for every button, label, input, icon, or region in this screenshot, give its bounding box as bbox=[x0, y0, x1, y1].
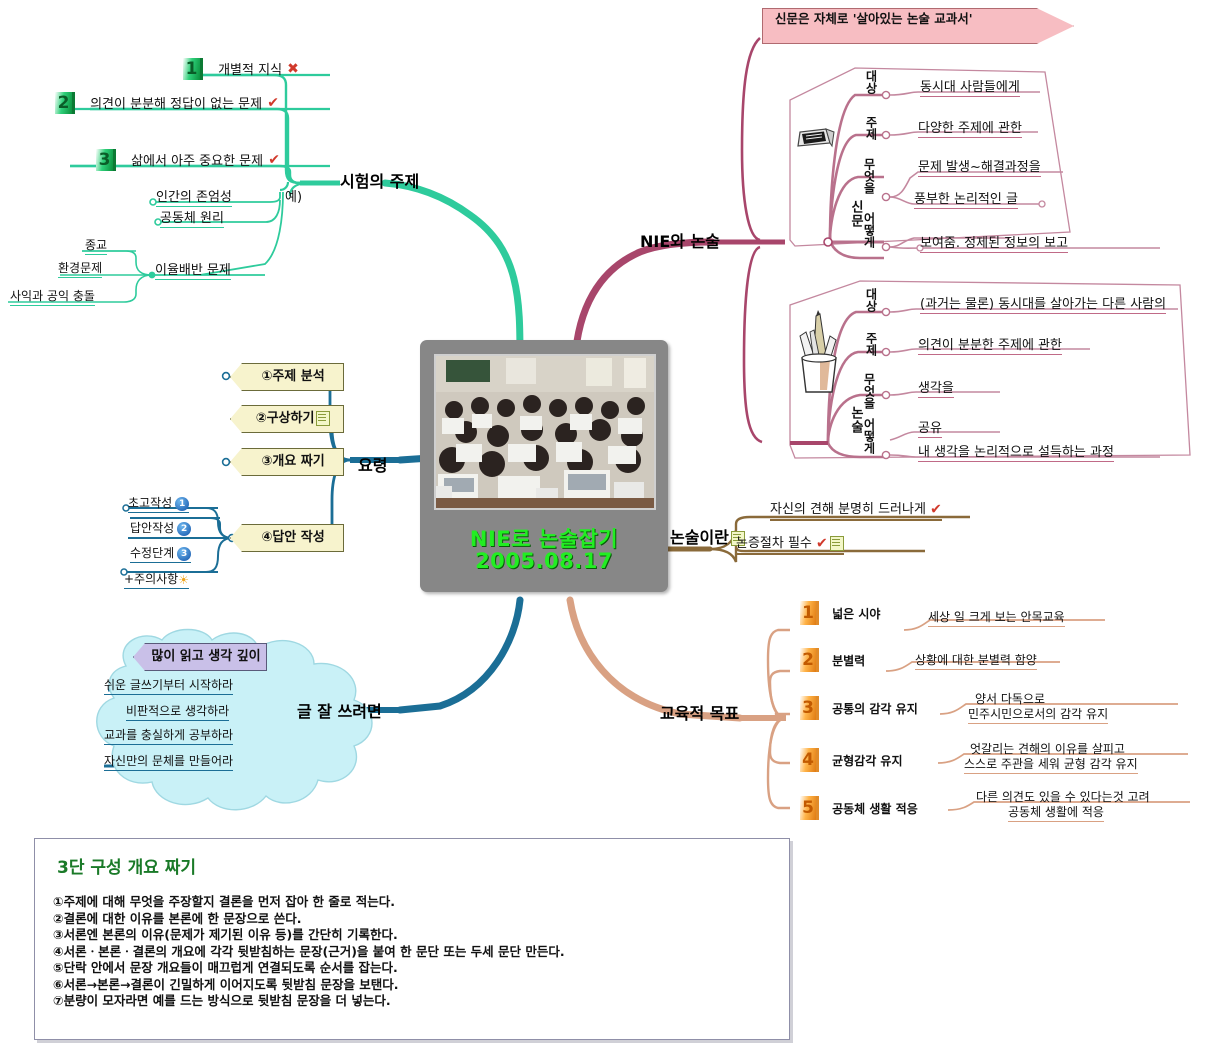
method-substep-3[interactable]: 수정단계3 bbox=[130, 544, 191, 563]
method-substep-1-label: 초고작성 bbox=[128, 496, 172, 510]
bulb-icon: ☀ bbox=[178, 573, 189, 587]
edu-goal-4-detail-2[interactable]: 스스로 주관을 세워 균형 감각 유지 bbox=[964, 755, 1138, 774]
number-badge-1: 1 bbox=[800, 601, 819, 625]
outline-doc-line: ⑥서론→본론→결론이 긴밀하게 이어지도록 뒷받침 문장을 보탠다. bbox=[35, 977, 789, 994]
number-badge-1: 1 bbox=[183, 58, 203, 80]
method-substep-2-label: 답안작성 bbox=[130, 521, 174, 535]
outline-doc-line: ①주제에 대해 무엇을 주장할지 결론을 먼저 잡아 한 줄로 적는다. bbox=[35, 894, 789, 911]
paradox-item-2[interactable]: 환경문제 bbox=[58, 259, 102, 278]
exam-item-3-label: 삶에서 아주 중요한 문제 bbox=[131, 154, 263, 169]
exam-item-1[interactable]: 1 개별적 지식 ✖ bbox=[183, 58, 299, 80]
essay-what-value[interactable]: 생각을 bbox=[918, 377, 954, 398]
what-is-essay-item-2-label: 논증절차 필수 bbox=[736, 536, 812, 551]
method-step-1[interactable]: ①주제 분석 bbox=[230, 363, 344, 391]
write-well-item-3[interactable]: 교과를 충실하게 공부하라 bbox=[104, 726, 233, 745]
cross-icon: ✖ bbox=[287, 61, 299, 77]
method-substep-1[interactable]: 초고작성1 bbox=[128, 494, 189, 513]
write-well-item-4[interactable]: 자신만의 문체를 만들어라 bbox=[104, 752, 233, 771]
edu-goal-2-title: 분별력 bbox=[832, 654, 865, 668]
center-title-line2: 2005.08.17 bbox=[420, 550, 668, 573]
exam-item-2-label: 의견이 분분해 정답이 없는 문제 bbox=[90, 97, 262, 112]
row-key-newspaper-target: 대상 bbox=[864, 70, 877, 94]
row-key-newspaper-what: 무엇을 bbox=[862, 158, 875, 194]
essay-how-value-1[interactable]: 공유 bbox=[918, 417, 942, 438]
paradox-label[interactable]: 이율배반 문제 bbox=[155, 259, 231, 280]
outline-doc-line: ③서론엔 본론의 이유(문제가 제기된 이유 등)를 간단히 기록한다. bbox=[35, 927, 789, 944]
exam-example-label: 예) bbox=[285, 186, 302, 205]
headline-banner-text: 신문은 자체로 '살아있는 논술 교과서' bbox=[763, 9, 1073, 26]
number-badge-3: 3 bbox=[96, 149, 116, 171]
check-icon: ✔ bbox=[268, 152, 280, 168]
number-badge-2: 2 bbox=[55, 92, 75, 114]
newspaper-target-value[interactable]: 동시대 사람들에게 bbox=[920, 76, 1020, 97]
edu-goal-4[interactable]: 4 균형감각 유지 bbox=[800, 748, 903, 772]
outline-doc-title: 3단 구성 개요 짜기 bbox=[35, 839, 789, 878]
mindmap-canvas: 1 개별적 지식 ✖ 2 의견이 분분해 정답이 없는 문제 ✔ 3 삶에서 아… bbox=[0, 0, 1224, 1053]
group-label-newspaper: 신문 bbox=[848, 200, 863, 228]
center-title-line1: NIE로 논술잡기 bbox=[420, 528, 668, 551]
headline-banner[interactable]: 신문은 자체로 '살아있는 논술 교과서' bbox=[762, 8, 1074, 44]
what-is-essay-item-2[interactable]: 논증절차 필수 ✔ bbox=[736, 532, 844, 555]
number-badge-5: 5 bbox=[800, 796, 819, 820]
branch-label-method[interactable]: 요령 bbox=[358, 452, 387, 476]
outline-doc-line: ⑦분량이 모자라면 예를 드는 방식으로 뒷받침 문장을 더 넣는다. bbox=[35, 993, 789, 1010]
row-key-essay-what: 무엇을 bbox=[862, 373, 875, 409]
edu-goal-3-title: 공통의 감각 유지 bbox=[832, 702, 918, 716]
write-well-item-1[interactable]: 쉬운 글쓰기부터 시작하라 bbox=[104, 676, 233, 695]
number-badge: 2 bbox=[177, 522, 191, 536]
what-is-essay-item-1-label: 자신의 견해 분명히 드러나게 bbox=[770, 502, 926, 517]
check-icon: ✔ bbox=[267, 95, 279, 111]
method-substep-4-label: +주의사항 bbox=[124, 572, 178, 586]
exam-example-1[interactable]: 인간의 존엄성 bbox=[156, 186, 232, 207]
row-key-newspaper-how: 어떻게 bbox=[862, 212, 875, 248]
method-step-3[interactable]: ③개요 짜기 bbox=[230, 448, 344, 476]
edu-goal-5-title: 공동체 생활 적응 bbox=[832, 802, 918, 816]
note-icon bbox=[316, 411, 330, 426]
what-is-essay-item-1[interactable]: 자신의 견해 분명히 드러나게 ✔ bbox=[770, 498, 942, 521]
write-well-highlight[interactable]: 많이 읽고 생각 깊이 bbox=[133, 643, 267, 671]
method-substep-4[interactable]: +주의사항☀ bbox=[124, 570, 189, 589]
branch-label-nie-essay[interactable]: NIE와 논술 bbox=[640, 228, 720, 252]
newspaper-how-value[interactable]: 보여줌. 정제된 정보의 보고 bbox=[920, 232, 1068, 253]
pencil-cup-icon bbox=[790, 310, 848, 400]
exam-item-3[interactable]: 3 삶에서 아주 중요한 문제 ✔ bbox=[96, 149, 280, 171]
number-badge-3: 3 bbox=[800, 696, 819, 720]
row-key-essay-topic: 주제 bbox=[864, 332, 877, 356]
outline-doc-line: ②결론에 대한 이유를 본론에 한 문장으로 쓴다. bbox=[35, 911, 789, 928]
number-badge: 3 bbox=[177, 547, 191, 561]
outline-doc-line: ⑤단락 안에서 문장 개요들이 매끄럽게 연결되도록 순서를 잡는다. bbox=[35, 960, 789, 977]
exam-item-1-label: 개별적 지식 bbox=[218, 63, 282, 78]
edu-goal-2-detail[interactable]: 상황에 대한 분별력 함양 bbox=[915, 651, 1037, 670]
branch-label-write-well[interactable]: 글 잘 쓰려면 bbox=[297, 698, 382, 722]
essay-how-value-2[interactable]: 내 생각을 논리적으로 설득하는 과정 bbox=[918, 441, 1114, 462]
edu-goal-4-title: 균형감각 유지 bbox=[832, 754, 902, 768]
method-step-4[interactable]: ④답안 작성 bbox=[230, 524, 344, 552]
exam-item-2[interactable]: 2 의견이 분분해 정답이 없는 문제 ✔ bbox=[55, 92, 279, 114]
branch-label-edu-goals[interactable]: 교육적 목표 bbox=[660, 700, 739, 724]
branch-label-exam-topic[interactable]: 시험의 주제 bbox=[340, 168, 419, 192]
outline-document-box[interactable]: 3단 구성 개요 짜기 ①주제에 대해 무엇을 주장할지 결론을 먼저 잡아 한… bbox=[34, 838, 790, 1040]
newspaper-icon bbox=[796, 126, 836, 156]
method-substep-3-label: 수정단계 bbox=[130, 546, 174, 560]
method-step-2[interactable]: ②구상하기 bbox=[230, 405, 344, 433]
number-badge: 1 bbox=[175, 497, 189, 511]
outline-doc-line: ④서론ㆍ본론ㆍ결론의 개요에 각각 뒷받침하는 문장(근거)을 붙여 한 문단 … bbox=[35, 944, 789, 961]
center-topic-card[interactable]: NIE로 논술잡기 2005.08.17 bbox=[420, 340, 668, 592]
newspaper-topic-value[interactable]: 다양한 주제에 관한 bbox=[918, 117, 1022, 138]
edu-goal-1-detail[interactable]: 세상 일 크게 보는 안목교육 bbox=[928, 608, 1065, 627]
edu-goal-3[interactable]: 3 공통의 감각 유지 bbox=[800, 696, 918, 720]
note-icon bbox=[830, 536, 844, 551]
method-substep-2[interactable]: 답안작성2 bbox=[130, 519, 191, 538]
newspaper-what-value-1[interactable]: 문제 발생~해결과정을 bbox=[918, 156, 1041, 177]
essay-topic-value[interactable]: 의견이 분분한 주제에 관한 bbox=[918, 334, 1062, 355]
number-badge-4: 4 bbox=[800, 748, 819, 772]
row-key-essay-target: 대상 bbox=[864, 288, 877, 312]
branch-label-what-is-essay[interactable]: 논술이란 bbox=[670, 524, 745, 548]
group-label-essay: 논술 bbox=[848, 406, 863, 434]
edu-goal-5[interactable]: 5 공동체 생활 적응 bbox=[800, 796, 918, 820]
edu-goal-5-detail-2[interactable]: 공동체 생활에 적응 bbox=[1008, 803, 1104, 822]
edu-goal-1-title: 넓은 시야 bbox=[832, 607, 880, 621]
number-badge-2: 2 bbox=[800, 648, 819, 672]
newspaper-what-value-2[interactable]: 풍부한 논리적인 글 bbox=[914, 188, 1018, 209]
check-icon: ✔ bbox=[816, 536, 828, 552]
write-well-item-2[interactable]: 비판적으로 생각하라 bbox=[126, 702, 229, 721]
check-icon: ✔ bbox=[930, 502, 942, 518]
row-key-newspaper-topic: 주제 bbox=[864, 116, 877, 140]
essay-target-value[interactable]: (과거는 물론) 동시대를 살아가는 다른 사람의 bbox=[920, 293, 1166, 314]
center-photo bbox=[434, 354, 656, 510]
exam-example-2[interactable]: 공동체 원리 bbox=[160, 207, 224, 228]
edu-goal-3-detail-2[interactable]: 민주시민으로서의 감각 유지 bbox=[968, 705, 1108, 724]
paradox-item-3[interactable]: 사익과 공익 충돌 bbox=[10, 287, 95, 306]
what-is-essay-label: 논술이란 bbox=[670, 528, 729, 547]
edu-goal-2[interactable]: 2 분별력 bbox=[800, 648, 865, 672]
edu-goal-1[interactable]: 1 넓은 시야 bbox=[800, 601, 880, 625]
paradox-item-1[interactable]: 종교 bbox=[85, 236, 107, 255]
row-key-essay-how: 어떻게 bbox=[862, 418, 875, 454]
method-step-2-label: ②구상하기 bbox=[256, 411, 315, 426]
